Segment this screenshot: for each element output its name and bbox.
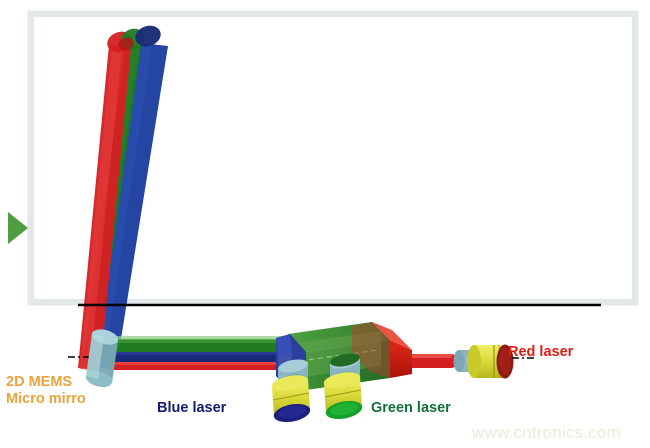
label-red-laser: Red laser: [508, 344, 573, 361]
diagram-canvas: 2D MEMS Micro mirro Blue laser Green las…: [0, 0, 650, 448]
label-2d-mems-micro-mirror: 2D MEMS Micro mirro: [6, 374, 86, 408]
horizontal-beam-bundle: [110, 336, 292, 370]
laser-projection-diagram: [0, 0, 650, 448]
label-blue-laser: Blue laser: [157, 400, 226, 417]
play-triangle-icon[interactable]: [8, 212, 28, 244]
watermark-text: www.cntronics.com: [472, 423, 621, 443]
label-green-laser: Green laser: [371, 400, 451, 417]
